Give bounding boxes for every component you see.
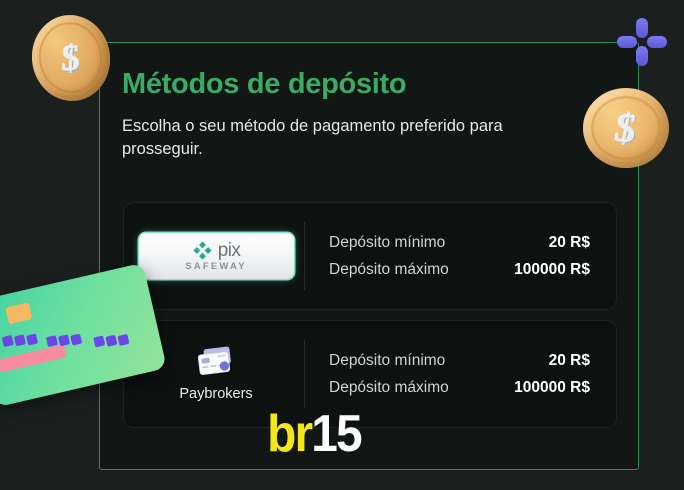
payment-methods-list: pix SAFEWAY Depósito mínimo 20 R$ Depósi… bbox=[123, 202, 617, 438]
limit-value: 100000 R$ bbox=[514, 379, 590, 397]
limit-value: 100000 R$ bbox=[514, 261, 590, 279]
payment-method-pix-safeway[interactable]: pix SAFEWAY Depósito mínimo 20 R$ Depósi… bbox=[123, 202, 617, 310]
page-title: Métodos de depósito bbox=[122, 69, 616, 101]
limit-row: Depósito mínimo 20 R$ bbox=[329, 352, 590, 370]
limit-value: 20 R$ bbox=[549, 234, 590, 252]
screen-root: Métodos de depósito Escolha o seu método… bbox=[0, 0, 684, 490]
pix-wordmark: pix bbox=[218, 241, 241, 260]
paybrokers-limits: Depósito mínimo 20 R$ Depósito máximo 10… bbox=[305, 352, 612, 397]
safeway-wordmark: SAFEWAY bbox=[185, 262, 247, 272]
limit-label: Depósito máximo bbox=[329, 261, 449, 279]
coin-rim bbox=[34, 18, 106, 97]
limit-row: Depósito mínimo 20 R$ bbox=[329, 234, 590, 252]
page-subtitle: Escolha o seu método de pagamento prefer… bbox=[122, 115, 572, 162]
limit-label: Depósito mínimo bbox=[329, 234, 445, 252]
card-stripe bbox=[0, 344, 67, 372]
limit-row: Depósito máximo 100000 R$ bbox=[329, 261, 590, 279]
paybrokers-label: Paybrokers bbox=[179, 386, 252, 402]
pix-limits: Depósito mínimo 20 R$ Depósito máximo 10… bbox=[305, 234, 612, 279]
limit-row: Depósito máximo 100000 R$ bbox=[329, 379, 590, 397]
pix-diamond-icon bbox=[192, 240, 213, 261]
limit-label: Depósito máximo bbox=[329, 379, 449, 397]
card-chip bbox=[5, 302, 32, 324]
deposit-methods-panel: Métodos de depósito Escolha o seu método… bbox=[99, 42, 639, 470]
pix-logo-plate: pix SAFEWAY bbox=[139, 233, 294, 279]
pix-safeway-logo[interactable]: pix SAFEWAY bbox=[128, 233, 304, 279]
limit-value: 20 R$ bbox=[549, 352, 590, 370]
limit-label: Depósito mínimo bbox=[329, 352, 445, 370]
credit-cards-icon bbox=[194, 346, 238, 380]
paybrokers-logo[interactable]: Paybrokers bbox=[128, 346, 304, 402]
pix-logo-row: pix bbox=[192, 240, 241, 261]
panel-header: Métodos de depósito Escolha o seu método… bbox=[100, 43, 638, 162]
payment-method-paybrokers[interactable]: Paybrokers Depósito mínimo 20 R$ Depósit… bbox=[123, 320, 617, 428]
